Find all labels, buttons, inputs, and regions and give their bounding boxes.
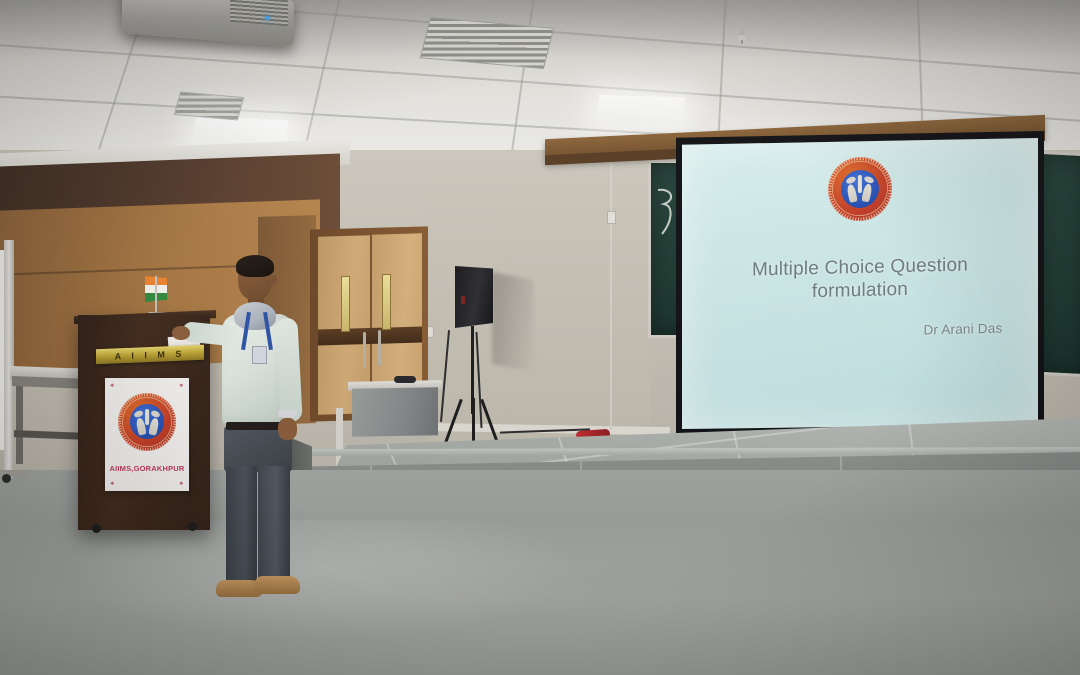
poster-corner-mark: ❖ <box>110 383 115 388</box>
flag-pole <box>155 276 157 316</box>
whiteboard-frame <box>4 240 14 478</box>
presenter-shoe <box>254 576 300 594</box>
presenter-ear <box>270 275 277 285</box>
side-table-leg <box>16 386 23 464</box>
speaker-tripod-leg <box>472 398 475 444</box>
poster-corner-mark: ❖ <box>110 481 115 486</box>
presenter-scarf <box>234 302 276 330</box>
presenter-hair <box>236 255 274 277</box>
wall-cable <box>610 150 612 430</box>
presenter-leg <box>226 466 257 586</box>
door-handle[interactable] <box>378 330 381 366</box>
podium-nameplate-text: A I I M S <box>115 348 186 361</box>
presenter-id-badge <box>252 346 267 364</box>
podium-poster: ❖ ❖ ❖ ❖ AIIMS,GORAKHPUR <box>105 378 189 491</box>
floor-reflection <box>60 520 580 640</box>
presenter-wristwatch <box>278 410 297 417</box>
presenter-left-hand <box>172 326 190 340</box>
ac-vent-louvers <box>421 18 553 68</box>
ac-diffuser-vent <box>174 91 244 120</box>
fire-sprinkler-icon <box>737 28 747 44</box>
poster-organisation-text: AIIMS,GORAKHPUR <box>105 464 189 473</box>
speaker-shadow <box>492 272 534 372</box>
recessed-light-panel <box>597 95 686 124</box>
projection-screen[interactable]: Multiple Choice Question formulation Dr … <box>682 138 1038 429</box>
lecture-hall-photo: Multiple Choice Question formulation Dr … <box>0 0 1080 675</box>
presenter-right-arm <box>275 317 302 422</box>
door-vision-panel <box>341 276 350 332</box>
aiims-emblem <box>118 393 176 451</box>
speaker-badge <box>461 296 465 304</box>
door-kick-band <box>318 327 422 346</box>
whiteboard-caster <box>2 474 11 483</box>
slide-title: Multiple Choice Question formulation <box>696 252 1024 306</box>
presenter-leg <box>258 466 290 584</box>
presenter-right-hand <box>278 418 297 440</box>
projector-vent-grill <box>230 0 288 26</box>
ac-cabinet <box>352 387 438 437</box>
poster-corner-mark: ❖ <box>179 383 184 388</box>
door-handle[interactable] <box>363 332 366 368</box>
presenter <box>196 258 306 558</box>
poster-corner-mark: ❖ <box>179 481 184 486</box>
aiims-emblem <box>828 156 892 222</box>
wall-switch[interactable] <box>607 211 616 224</box>
cabinet-top-object <box>394 376 416 383</box>
projector-power-led <box>265 16 270 20</box>
podium-caster <box>92 524 101 533</box>
slide-author: Dr Arani Das <box>923 321 1002 338</box>
door-vision-panel <box>382 274 391 330</box>
